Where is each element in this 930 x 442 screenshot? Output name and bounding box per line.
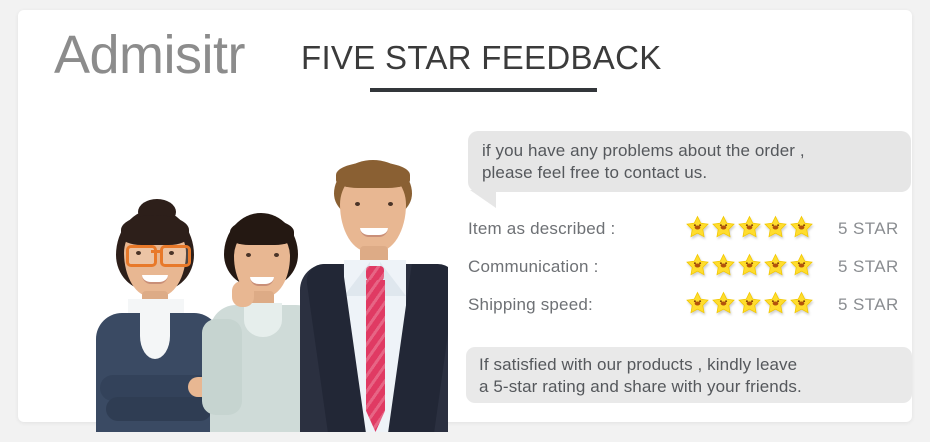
star-icon <box>790 291 813 314</box>
tie-knot <box>366 266 384 282</box>
eye-right <box>169 251 174 255</box>
eye-left <box>136 251 141 255</box>
star-icon <box>686 291 709 314</box>
hand-chin <box>232 281 254 307</box>
star-icon <box>738 253 761 276</box>
team-photo <box>58 160 448 432</box>
ratings-list: Item as described : 5 STAR Communication… <box>468 215 913 329</box>
rating-label: Shipping speed: <box>468 295 593 315</box>
feedback-banner: Admisitr FIVE STAR FEEDBACK <box>0 0 930 442</box>
star-rating-communication <box>686 253 813 276</box>
rating-value: 5 STAR <box>838 257 899 277</box>
rating-label: Communication : <box>468 257 599 277</box>
glasses-bridge-icon <box>151 250 160 253</box>
star-icon <box>790 215 813 238</box>
rating-row-shipping-speed: Shipping speed: 5 STAR <box>468 291 913 329</box>
bubble-line-2: please feel free to contact us. <box>482 162 897 184</box>
eye-left <box>355 202 360 206</box>
necktie <box>366 280 385 432</box>
eye-right <box>274 253 279 257</box>
note-line-1: If satisfied with our products , kindly … <box>479 354 899 376</box>
brand-logo: Admisitr <box>54 28 245 82</box>
contact-bubble: if you have any problems about the order… <box>468 131 911 192</box>
note-line-2: a 5-star rating and share with your frie… <box>479 376 899 398</box>
star-icon <box>712 215 735 238</box>
hair-front-icon <box>121 215 189 245</box>
star-icon <box>790 253 813 276</box>
page-title: FIVE STAR FEEDBACK <box>301 41 662 74</box>
hair-front-icon <box>230 219 294 245</box>
eye-left <box>246 253 251 257</box>
star-icon <box>764 253 787 276</box>
rating-row-item-as-described: Item as described : 5 STAR <box>468 215 913 253</box>
star-icon <box>764 291 787 314</box>
v-neck <box>140 313 170 359</box>
star-icon <box>738 215 761 238</box>
satisfaction-note: If satisfied with our products , kindly … <box>466 347 912 403</box>
star-icon <box>738 291 761 314</box>
arm-raised <box>202 319 242 415</box>
bubble-tail-icon <box>470 190 496 208</box>
rating-row-communication: Communication : 5 STAR <box>468 253 913 291</box>
star-icon <box>764 215 787 238</box>
glasses-right-icon <box>160 245 191 267</box>
rating-value: 5 STAR <box>838 295 899 315</box>
rating-label: Item as described : <box>468 219 615 239</box>
eye-right <box>388 202 393 206</box>
star-icon <box>712 253 735 276</box>
person-right <box>294 160 448 432</box>
star-rating-item-as-described <box>686 215 813 238</box>
star-icon <box>712 291 735 314</box>
glasses-left-icon <box>126 245 157 267</box>
title-underline <box>370 88 597 92</box>
bubble-line-1: if you have any problems about the order… <box>482 140 897 162</box>
star-icon <box>686 215 709 238</box>
star-rating-shipping-speed <box>686 291 813 314</box>
rating-value: 5 STAR <box>838 219 899 239</box>
collar-shirt <box>244 303 282 337</box>
banner-card: Admisitr FIVE STAR FEEDBACK <box>18 10 912 422</box>
star-icon <box>686 253 709 276</box>
hair-front-icon <box>336 162 410 188</box>
